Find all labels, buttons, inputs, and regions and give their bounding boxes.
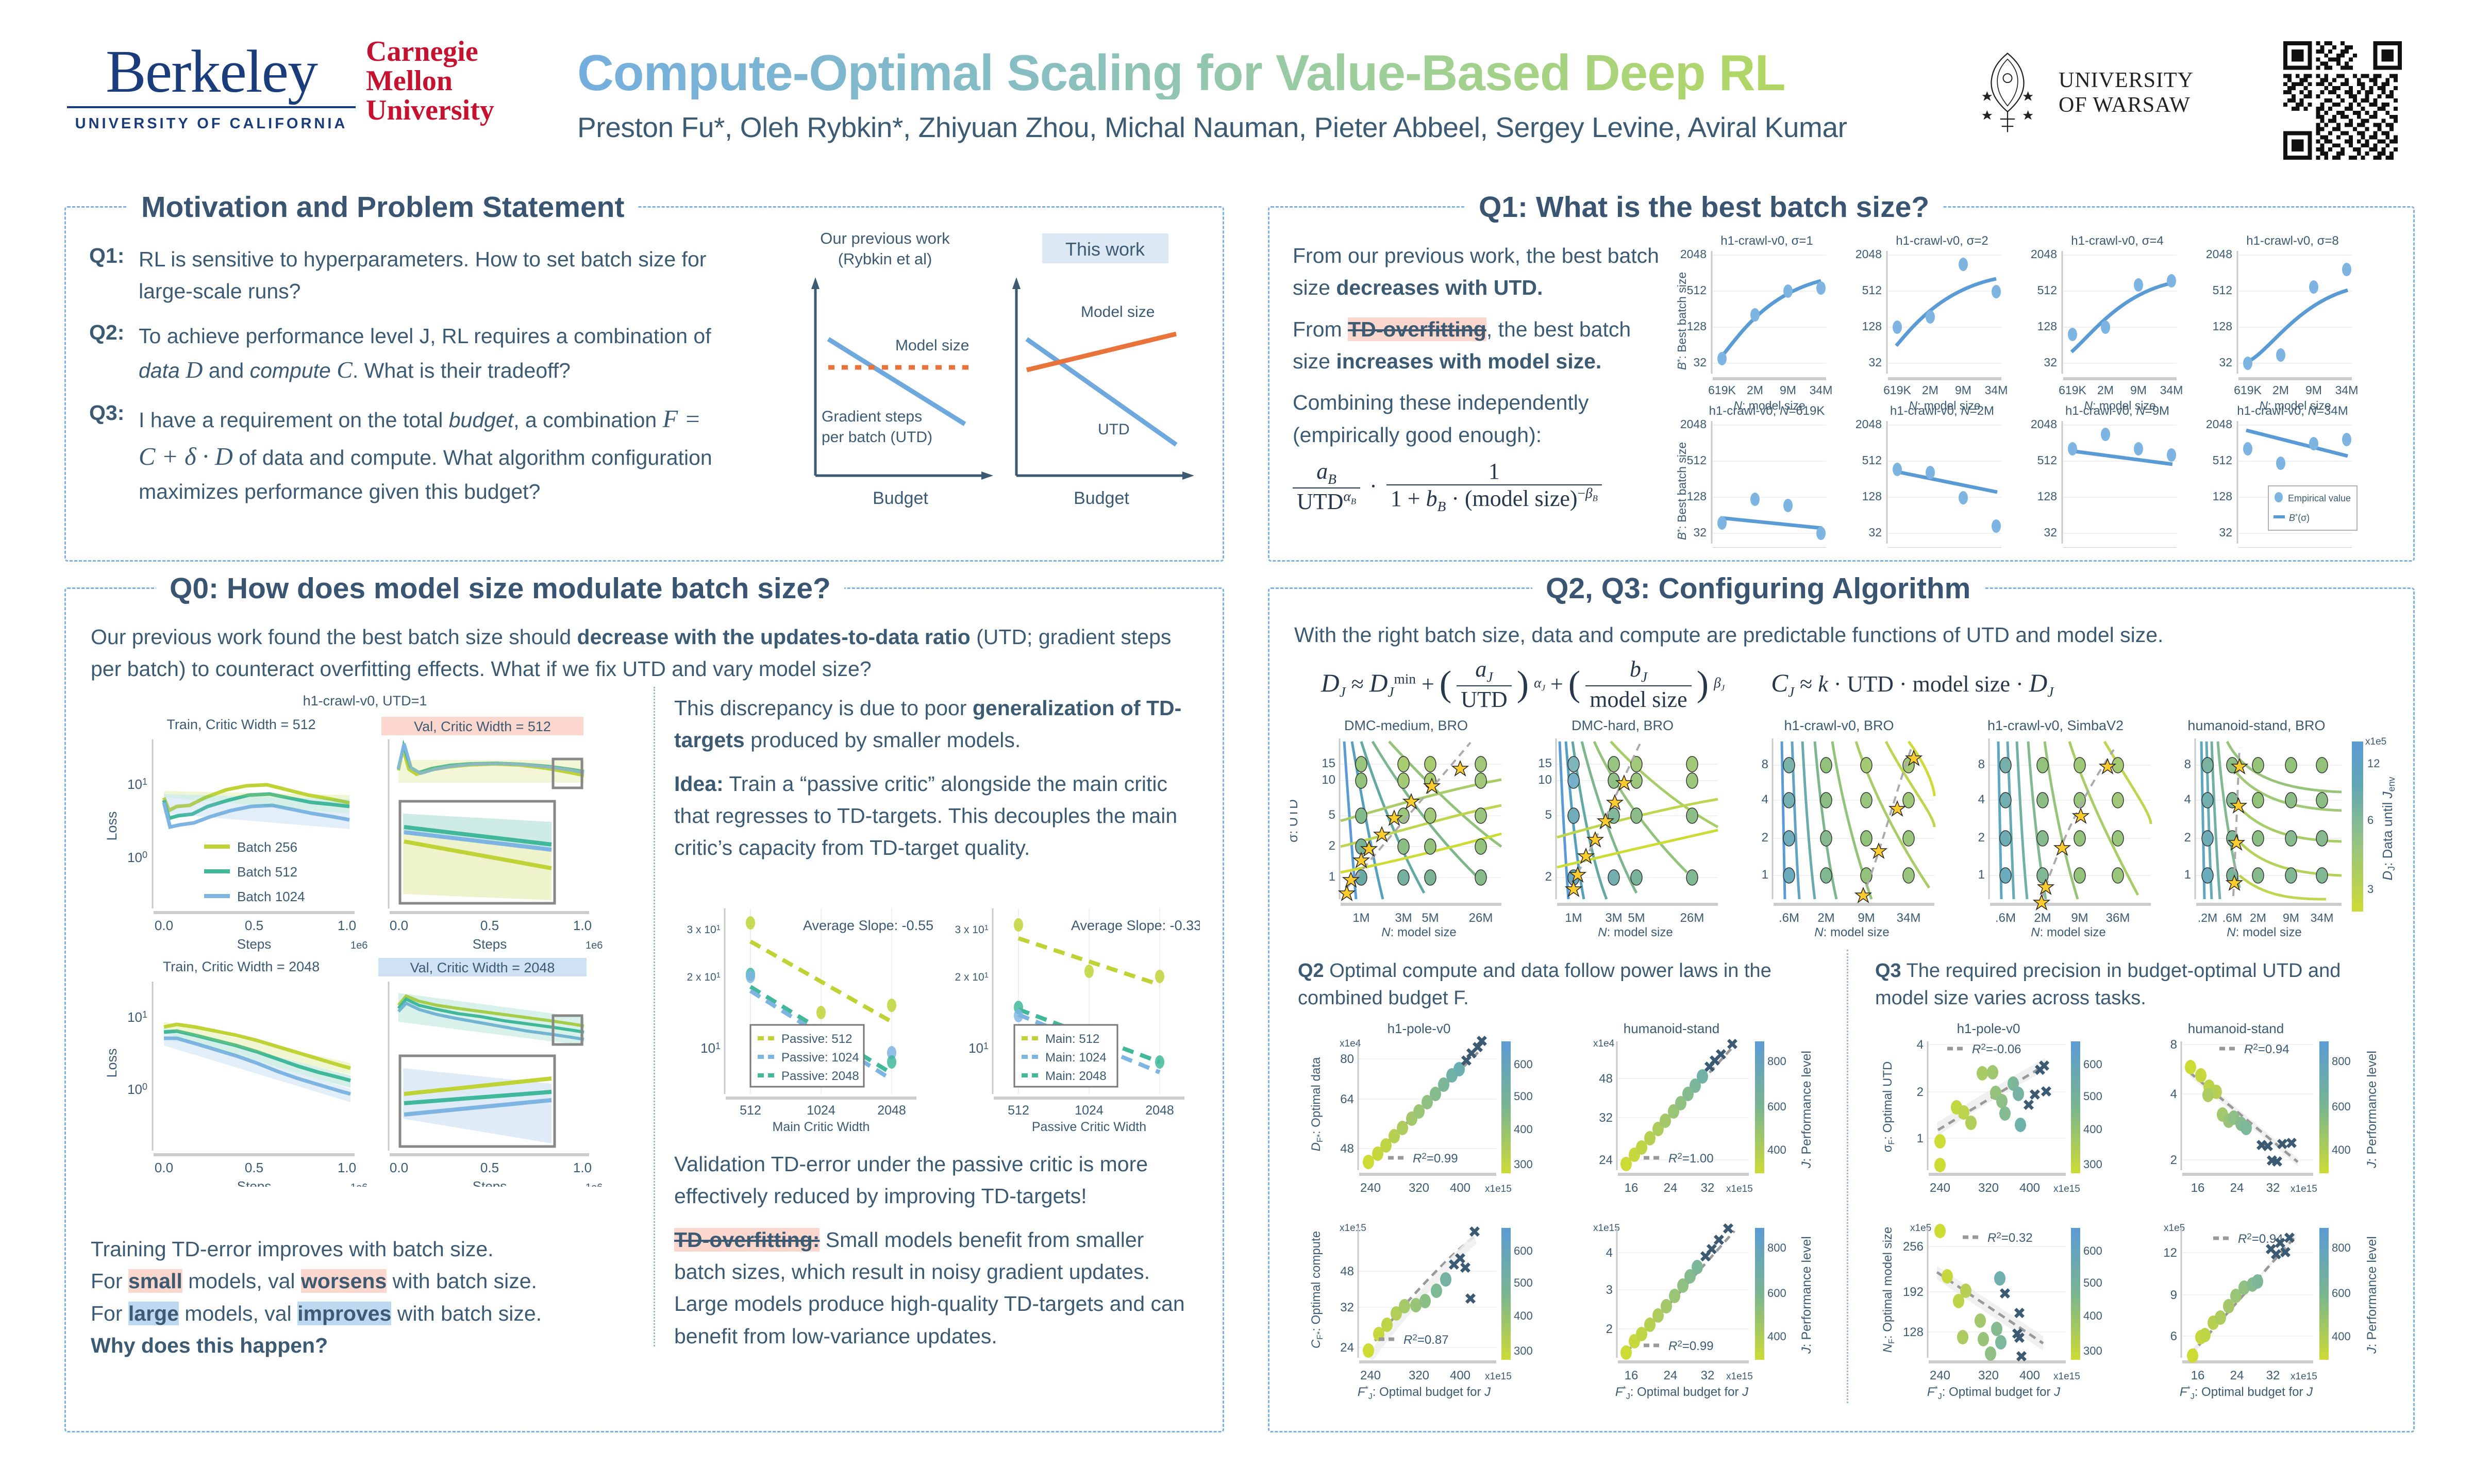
q3-panel-modelsize-humanoid: x1e5 12 9 6 [2163,1223,2379,1401]
svg-text:2: 2 [2170,1153,2177,1167]
svg-text:32: 32 [2266,1369,2280,1382]
svg-text:24: 24 [1340,1341,1354,1355]
svg-text:15: 15 [1538,756,1552,770]
q0-slope-legend-main: Main: 512 Main: 1024 Main: 2048 [1014,1025,1117,1087]
q1-formula-den-2: 1 + bB · (model size)−βB [1386,484,1602,515]
svg-text:1e6: 1e6 [586,940,603,951]
svg-text:1M: 1M [1352,911,1369,925]
panel-q1: Q1: What is the best batch size? From ou… [1268,206,2415,562]
svg-text:0.5: 0.5 [245,1160,263,1175]
q0-conclusions: Training TD-error improves with batch si… [91,1233,637,1361]
svg-text:512: 512 [2213,453,2232,467]
q2-text: Optimal compute and data follow power la… [1298,960,1771,1009]
svg-text:1: 1 [1978,868,1985,882]
svg-text:✖: ✖ [2270,1154,2283,1171]
svg-text:9M: 9M [2305,383,2322,397]
q0-legend-passive-1024: Passive: 1024 [781,1051,859,1065]
svg-text:2M: 2M [1747,383,1763,397]
svg-text:2: 2 [1545,870,1552,884]
svg-text:2: 2 [1329,839,1335,853]
q1-legend-points: Empirical value [2288,493,2351,503]
q1-paragraph-3: Combining these independently (empirical… [1293,386,1674,451]
question-label: Q3: [89,401,129,508]
q1-formula-frac-1: aB UTDαB [1293,458,1360,515]
svg-text:320: 320 [1409,1369,1429,1382]
svg-text:800: 800 [1767,1241,1786,1254]
svg-text:1: 1 [1762,868,1768,882]
q0-concl3-a: For [91,1302,128,1325]
svg-text:.6M: .6M [1995,911,2016,925]
eq-data-lhs: DJ ≈ DJmin + [1321,668,1434,700]
svg-text:9M: 9M [2130,383,2147,397]
svg-text:R2=-0.06: R2=-0.06 [1972,1042,2021,1056]
q1-formula-frac-2: 1 1 + bB · (model size)−βB [1386,458,1602,515]
svg-text:101: 101 [700,1040,721,1056]
q0-right-p4: TD-overfitting: Small models benefit fro… [674,1224,1200,1352]
q2-panel-compute-humanoid: x1e15 4 3 2 [1593,1221,1814,1401]
q2-subhead: Q2 Optimal compute and data follow power… [1298,957,1824,1012]
svg-text:320: 320 [1978,1181,1999,1195]
svg-text:✖: ✖ [1726,1036,1739,1053]
svg-text:600: 600 [1767,1100,1786,1113]
svg-text:600: 600 [1514,1058,1533,1071]
q0-legend-main-2048: Main: 2048 [1045,1069,1107,1083]
q2-text-a: To achieve performance level J, RL requi… [139,324,711,348]
q2-symbol-C: C [337,357,353,383]
q3-text: The required precision in budget-optimal… [1875,960,2341,1009]
q0-slope-figure: 3 x 101 2 x 101 101 Average Slope: -0.55… [674,898,1200,1135]
svg-text:.6M: .6M [2222,911,2242,924]
svg-text:✖: ✖ [2013,1330,2026,1347]
q2-panel-compute-h1pole: x1e15 48 32 24 CF*: Optimal compute [1309,1223,1533,1401]
svg-text:✖: ✖ [2283,1230,2296,1247]
svg-text:600: 600 [2083,1058,2102,1071]
svg-text:400: 400 [2083,1309,2102,1322]
svg-text:humanoid-stand: humanoid-stand [1624,1022,1719,1036]
svg-text:619K: 619K [2059,383,2086,397]
svg-text:5: 5 [1329,808,1335,822]
q1-legend: Empirical value B*(σ) [2268,486,2357,530]
panel-q0-title: Q0: How does model size modulate batch s… [156,571,844,605]
q0-slope-annotation-passive: Average Slope: -0.33 [1071,918,1200,933]
svg-text:512: 512 [1008,1103,1029,1118]
svg-text:1.0: 1.0 [338,1160,356,1175]
svg-text:320: 320 [1409,1181,1429,1195]
q0-rp1-a: This discrepancy is due to poor [674,696,973,720]
svg-text:Steps: Steps [473,936,507,952]
q0-concl-3: For large models, val improves with batc… [91,1297,637,1329]
svg-text:32: 32 [1868,526,1882,539]
svg-text:0.0: 0.0 [390,1160,408,1175]
q0-column-divider [654,687,655,1346]
q3-xlabel-1: F*J: Optimal budget for J [1927,1385,2061,1401]
svg-text:h1-crawl-v0, N=619K: h1-crawl-v0, N=619K [1709,404,1825,418]
berkeley-wordmark: Berkeley [67,41,356,102]
svg-text:6: 6 [2367,814,2373,827]
svg-text:36M: 36M [2106,911,2130,925]
q0-intro-paragraph: Our previous work found the best batch s… [91,621,1194,685]
svg-text:h1-pole-v0: h1-pole-v0 [1388,1022,1451,1036]
q1-formula-den-1: UTDαB [1293,487,1360,515]
svg-text:N: model size: N: model size [2227,925,2301,939]
q1-figure-grid: h1-crawl-v0, σ=1 2048 512 128 32 619K 2M [1677,233,2398,548]
q1-row2-panel-4: h1-crawl-v0, N=34M 2048 512 128 32 [2206,404,2357,548]
svg-text:1e6: 1e6 [350,1182,367,1187]
svg-text:500: 500 [1514,1090,1533,1103]
q23-eq-compute: CJ ≈ k · UTD · model size · DJ [1771,668,2053,700]
page-title: Compute-Optimal Scaling for Value-Based … [577,46,1917,99]
q2-colorbar-label-bottom: J: Performance level [1799,1236,1814,1354]
svg-text:x1e15: x1e15 [2053,1371,2080,1382]
motivation-schematic: Our previous work (Rybkin et al) This wo… [784,228,1207,532]
svg-text:9M: 9M [1858,911,1875,925]
svg-text:x1e4: x1e4 [1593,1038,1615,1049]
svg-text:64: 64 [1340,1092,1354,1106]
svg-text:✖: ✖ [1721,1221,1734,1238]
question-row: Q3: I have a requirement on the total bu… [89,401,723,508]
svg-text:x1e15: x1e15 [1485,1371,1512,1382]
question-text: I have a requirement on the total budget… [139,401,716,508]
svg-text:300: 300 [2083,1158,2102,1171]
svg-text:9M: 9M [1955,383,1971,397]
q0-concl-4: Why does this happen? [91,1329,637,1361]
question-label: Q1: [89,244,129,307]
svg-text:2048: 2048 [1855,417,1882,431]
svg-text:24: 24 [1664,1181,1678,1195]
svg-text:1.0: 1.0 [573,1160,592,1175]
svg-text:h1-crawl-v0, σ=8: h1-crawl-v0, σ=8 [2246,234,2339,248]
q23-column-divider [1847,950,1848,1403]
panel-q0: Q0: How does model size modulate batch s… [64,587,1224,1432]
svg-text:8: 8 [2170,1038,2177,1052]
svg-text:12: 12 [2367,757,2380,770]
svg-text:4: 4 [1917,1038,1924,1052]
svg-text:2048: 2048 [877,1103,906,1118]
q0-loss-suptitle: h1-crawl-v0, UTD=1 [303,693,427,709]
q1-paragraph-1: From our previous work, the best batch s… [1293,240,1674,304]
q0-legend-passive-512: Passive: 512 [781,1032,852,1046]
svg-text:1: 1 [2184,868,2191,882]
q2-r2-label-2: R2=1.00 [1644,1151,1714,1166]
svg-text:5: 5 [1545,808,1552,822]
svg-text:x1e15: x1e15 [2291,1184,2317,1194]
svg-text:Loss: Loss [104,811,120,840]
svg-text:600: 600 [1767,1287,1786,1300]
svg-text:15: 15 [1322,756,1335,770]
svg-text:x1e15: x1e15 [1726,1371,1753,1382]
svg-text:h1-crawl-v0, σ=1: h1-crawl-v0, σ=1 [1720,234,1813,248]
q1-paragraph-2: From TD-overfitting, the best batch size… [1293,313,1674,378]
svg-text:128: 128 [1903,1325,1924,1339]
svg-text:1e6: 1e6 [350,940,367,951]
contour-panel-simbav2: h1-crawl-v0, SimbaV2 8 4 2 1 [1978,718,2151,939]
svg-text:600: 600 [1514,1244,1533,1257]
q0-concl2-b: models, val [182,1269,301,1293]
svg-text:Steps: Steps [237,936,272,952]
svg-text:2048: 2048 [1855,247,1882,261]
svg-text:x1e15: x1e15 [2053,1184,2080,1194]
question-row: Q1: RL is sensitive to hyperparameters. … [89,244,723,307]
svg-text:2M: 2M [1817,911,1834,925]
svg-text:100: 100 [127,850,147,865]
q0-slope-legend-passive: Passive: 512 Passive: 1024 Passive: 2048 [750,1025,864,1087]
q0-right-p3: Validation TD-error under the passive cr… [674,1148,1200,1212]
title-block: Compute-Optimal Scaling for Value-Based … [577,46,1917,144]
q23-lead-text: With the right batch size, data and comp… [1294,619,2387,651]
warsaw-line-1: UNIVERSITY [2059,68,2194,93]
q0-concl2-a: For [91,1269,128,1293]
svg-text:✖: ✖ [1464,1291,1477,1308]
svg-text:h1-crawl-v0, N=34M: h1-crawl-v0, N=34M [2237,404,2348,418]
q2-ylabel-data: DF*: Optimal data [1309,1057,1325,1151]
q3-label: Q3 [1875,960,1901,982]
svg-text:512: 512 [2037,283,2057,297]
svg-text:2 x 101: 2 x 101 [687,971,721,983]
svg-text:300: 300 [1514,1158,1533,1171]
eq-data-num-1: aJ [1457,656,1511,685]
svg-text:✖: ✖ [1475,1033,1488,1050]
svg-text:2M: 2M [2250,911,2266,924]
warsaw-logo: UNIVERSITY OF WARSAW [1969,49,2258,137]
svg-text:Val, Critic Width = 2048: Val, Critic Width = 2048 [410,960,555,975]
svg-text:✖: ✖ [2015,1348,2028,1365]
svg-text:34M: 34M [2335,383,2359,397]
svg-text:32: 32 [1701,1369,1715,1382]
svg-text:R2=0.87: R2=0.87 [1403,1333,1449,1347]
schematic-right-caption: This work [1065,239,1145,260]
q3-ylabel-modelsize: NF: Optimal model size [1881,1227,1896,1353]
svg-text:8: 8 [1978,757,1985,771]
svg-text:2M: 2M [1922,383,1938,397]
question-text: To achieve performance level J, RL requi… [139,321,716,387]
svg-text:600: 600 [2083,1244,2102,1257]
q1-row1-panel-1: h1-crawl-v0, σ=1 2048 512 128 32 619K 2M [1680,234,1833,412]
svg-text:Val, Critic Width = 512: Val, Critic Width = 512 [414,719,551,734]
svg-text:9M: 9M [1780,383,1796,397]
svg-text:32: 32 [2044,526,2057,539]
svg-text:4: 4 [1978,792,1985,806]
svg-text:DMC-hard, BRO: DMC-hard, BRO [1572,718,1674,733]
q1-formula: aB UTDαB · 1 1 + bB · (model size)−βB [1293,458,1674,515]
svg-text:2: 2 [1978,831,1985,845]
svg-text:34M: 34M [2311,911,2334,924]
svg-text:2: 2 [1917,1085,1924,1099]
svg-text:300: 300 [1514,1344,1533,1357]
svg-text:128: 128 [2037,319,2057,333]
q0-slope-panel-main: 3 x 101 2 x 101 101 Average Slope: -0.55… [687,908,933,1134]
q0-rp1-c: produced by smaller models. [745,728,1021,752]
eq-data-paren-2-close: ) [1697,663,1709,705]
svg-text:24: 24 [1664,1369,1678,1382]
svg-text:400: 400 [1767,1143,1786,1156]
panel-motivation: Motivation and Problem Statement Q1: RL … [64,206,1224,562]
svg-text:humanoid-stand: humanoid-stand [2188,1022,2284,1036]
svg-text:R2=0.32: R2=0.32 [1987,1230,2033,1245]
q23-lead: With the right batch size, data and comp… [1294,619,2387,651]
q0-slope-panel-passive: 3 x 101 2 x 101 101 Average Slope: -0.33… [955,908,1200,1134]
q1-row1-panel-2: h1-crawl-v0, σ=2 2048 512 128 32 619K 2M [1855,234,2008,412]
q3-ylabel-utd: σF: Optimal UTD [1881,1061,1896,1153]
svg-text:100: 100 [127,1082,147,1097]
panel-q23: Q2, Q3: Configuring Algorithm With the r… [1268,587,2415,1432]
svg-text:N: model size: N: model size [2031,925,2105,939]
q1-p2-c: increases with model size. [1336,349,1601,373]
q1-formula-num-2: 1 [1386,458,1602,484]
svg-text:1: 1 [1917,1132,1924,1145]
svg-text:✖: ✖ [2013,1305,2026,1322]
svg-text:512: 512 [2037,453,2057,467]
svg-text:34M: 34M [1897,911,1921,925]
svg-text:12: 12 [2163,1246,2177,1260]
svg-text:4: 4 [1762,792,1768,806]
svg-text:3 x 101: 3 x 101 [955,923,989,936]
eq-data-frac-2: bJ model size [1585,656,1691,713]
q1-row2-panel-3: h1-crawl-v0, N=9M 2048 512 128 32 1 2 4 [2031,404,2177,548]
q0-concl2-c: with batch size. [387,1269,537,1293]
svg-text:500: 500 [1514,1276,1533,1289]
svg-text:128: 128 [1687,319,1707,333]
svg-text:8: 8 [2184,757,2191,771]
q0-right-p1: This discrepancy is due to poor generali… [674,692,1200,756]
q3-subhead: Q3 The required precision in budget-opti… [1875,957,2391,1012]
q1-row1-panel-3: h1-crawl-v0, σ=4 2048 512 128 32 619K 2M [2031,234,2183,412]
q0-concl-1: Training TD-error improves with batch si… [91,1233,637,1265]
svg-text:619K: 619K [1708,383,1736,397]
svg-text:3M: 3M [1395,911,1412,925]
motivation-questions: Q1: RL is sensitive to hyperparameters. … [89,244,723,521]
schematic-left-model-label: Model size [895,337,969,354]
svg-text:2M: 2M [2272,383,2289,397]
q1-row2-panel-1: h1-crawl-v0, N=619K 2048 512 128 32 1 2 … [1680,404,1826,548]
svg-text:0.0: 0.0 [390,918,408,933]
svg-text:32: 32 [1693,356,1707,369]
svg-text:400: 400 [1767,1330,1786,1343]
svg-text:B*: Best batch size: B*: Best batch size [1677,442,1689,540]
svg-text:48: 48 [1340,1264,1354,1278]
svg-text:128: 128 [1862,319,1882,333]
svg-text:128: 128 [2037,490,2057,503]
svg-text:240: 240 [1360,1369,1381,1382]
q2-em-data: data [139,359,180,382]
q2-xlabel-2: F*J: Optimal budget for J [1615,1385,1749,1401]
svg-text:32: 32 [2219,526,2232,539]
q0-rp4-label: TD-overfitting: [674,1228,820,1252]
svg-text:σ: UTD: σ: UTD [1290,799,1300,842]
q0-right-column: This discrepancy is due to poor generali… [674,692,1200,864]
svg-text:B*: Best batch size: B*: Best batch size [1677,272,1689,370]
q3-panel-utd-h1pole: h1-pole-v0 4 2 1 σF: Optimal UTD [1881,1022,2102,1195]
svg-text:3: 3 [2367,883,2373,896]
svg-text:R2=0.99: R2=0.99 [1668,1339,1714,1353]
svg-text:4: 4 [2170,1087,2177,1101]
svg-text:x1e15: x1e15 [1593,1223,1620,1234]
question-row: Q2: To achieve performance level J, RL r… [89,321,723,387]
berkeley-subtitle: UNIVERSITY OF CALIFORNIA [67,115,356,132]
q23-eq-data: DJ ≈ DJmin + ( aJ UTD )αJ + ( bJ model s… [1321,656,1725,713]
svg-text:2: 2 [1606,1322,1613,1336]
svg-text:256: 256 [1903,1240,1924,1254]
q2-scatter-figure: h1-pole-v0 x1e4 80 64 48 DF*: Optimal da… [1290,1022,1842,1403]
svg-text:6: 6 [2170,1329,2177,1343]
q1-formula-num-1: aB [1293,458,1360,487]
svg-text:32: 32 [1701,1181,1715,1195]
svg-text:h1-pole-v0: h1-pole-v0 [1957,1022,2020,1036]
svg-text:2048: 2048 [2031,247,2057,261]
q1-text-block: From our previous work, the best batch s… [1293,240,1674,515]
svg-text:400: 400 [2083,1123,2102,1136]
eq-data-exp-2: βJ [1714,675,1725,693]
svg-text:619K: 619K [1883,383,1911,397]
q2-symbol-D: D [186,357,203,383]
q3-colorbar-label-top: J: Performance level [2365,1051,2379,1169]
svg-text:3M: 3M [1605,911,1622,925]
q2-xlabel-1: F*J: Optimal budget for J [1358,1385,1491,1401]
svg-text:128: 128 [2213,319,2232,333]
svg-text:400: 400 [2332,1143,2351,1156]
eq-data-den-2: model size [1585,685,1691,713]
contour-panel-dmc-hard: DMC-hard, BRO 15 10 5 2 [1538,718,1718,939]
svg-text:34M: 34M [1810,383,1833,397]
svg-text:48: 48 [1599,1072,1613,1086]
q1-row2-panel-2: h1-crawl-v0, N=2M 2048 512 128 32 1 2 4 [1855,404,2001,548]
svg-text:32: 32 [2044,356,2057,369]
svg-text:0.0: 0.0 [155,918,173,933]
qr-code-icon[interactable] [2283,41,2402,160]
svg-text:240: 240 [1930,1369,1950,1382]
svg-text:800: 800 [1767,1055,1786,1068]
q2-panel-data-humanoid: humanoid-stand x1e4 48 32 24 [1593,1022,1814,1195]
svg-text:1.0: 1.0 [573,918,592,933]
svg-text:✖: ✖ [1998,1286,2011,1303]
question-text: RL is sensitive to hyperparameters. How … [139,244,716,307]
svg-text:240: 240 [1930,1181,1950,1195]
q1-p1-b: decreases with UTD. [1336,276,1543,299]
svg-text:1e6: 1e6 [586,1182,603,1187]
svg-text:x1e15: x1e15 [1340,1223,1366,1234]
schematic-left-utd-label-1: Gradient steps [822,408,922,425]
q23-contour-figure: DMC-medium, BRO 15 10 5 2 1 [1290,718,2396,939]
schematic-left-caption-2: (Rybkin et al) [838,250,932,268]
svg-text:5M: 5M [1422,911,1439,925]
q0-legend-main-1024: Main: 1024 [1045,1051,1107,1065]
svg-text:h1-crawl-v0, SimbaV2: h1-crawl-v0, SimbaV2 [1987,718,2124,733]
q0-right-bottom: Validation TD-error under the passive cr… [674,1148,1200,1352]
svg-text:humanoid-stand, BRO: humanoid-stand, BRO [2187,718,2325,733]
svg-text:26M: 26M [1469,911,1493,925]
svg-text:320: 320 [1978,1369,1999,1382]
svg-text:✖: ✖ [2040,1084,2052,1101]
svg-text:48: 48 [1340,1142,1354,1156]
svg-text:500: 500 [2083,1090,2102,1103]
q0-concl-2: For small models, val worsens with batch… [91,1265,637,1297]
svg-text:400: 400 [1514,1309,1533,1322]
svg-text:400: 400 [1450,1369,1470,1382]
svg-text:101: 101 [127,1009,147,1025]
svg-text:9: 9 [2170,1288,2177,1302]
q1-formula-dot: · [1369,473,1377,499]
svg-text:32: 32 [2266,1181,2280,1195]
berkeley-rule [67,106,356,108]
svg-text:192: 192 [1903,1285,1924,1299]
svg-text:500: 500 [2083,1276,2102,1289]
svg-text:R2=1.00: R2=1.00 [1668,1151,1714,1166]
svg-text:80: 80 [1340,1052,1354,1066]
svg-text:600: 600 [2332,1100,2351,1113]
q3-xlabel-2: F*J: Optimal budget for J [2180,1385,2313,1401]
q0-slope-xlabel-main: Main Critic Width [773,1120,870,1134]
svg-text:24: 24 [2230,1369,2244,1382]
q23-equations: DJ ≈ DJmin + ( aJ UTD )αJ + ( bJ model s… [1321,656,2378,713]
